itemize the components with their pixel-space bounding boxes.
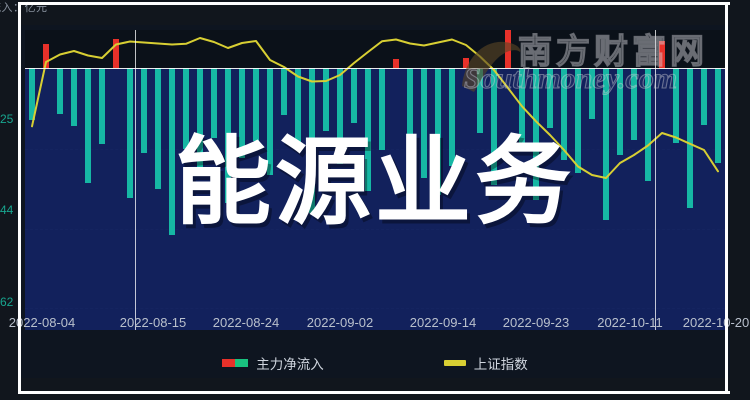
frame-top-edge (18, 2, 730, 5)
chart-plot-area (25, 30, 725, 330)
vertical-guide-right (655, 30, 656, 330)
legend-label: 主力净流入 (256, 353, 324, 373)
zero-baseline (25, 68, 725, 69)
page-header-text: 流入：亿元 (0, 0, 48, 15)
line-series-shanghai-index (25, 30, 725, 330)
x-axis-label-3: 2022-09-02 (307, 315, 374, 330)
x-axis-label-4: 2022-09-14 (410, 315, 477, 330)
frame-corner-top-right (709, 2, 728, 21)
y-axis-label-2: -3.25 (0, 112, 13, 126)
x-axis-labels: 2022-08-042022-08-152022-08-242022-09-02… (20, 315, 730, 337)
x-axis-label-6: 2022-10-11 (597, 315, 663, 330)
legend-swatch-bar-icon (222, 359, 248, 367)
x-axis-label-1: 2022-08-15 (120, 315, 187, 330)
x-axis-label-0: 2022-08-04 (9, 315, 76, 330)
x-axis-label-2: 2022-08-24 (213, 315, 280, 330)
x-axis-label-5: 2022-09-23 (503, 315, 570, 330)
screenshot-root: 流入：亿元 390-3.25-6.44-9.62 2022-08-042022-… (0, 0, 750, 400)
legend-item-0[interactable]: 主力净流入 (222, 353, 324, 373)
legend-label: 上证指数 (474, 353, 528, 373)
bottom-strip (0, 378, 750, 400)
x-axis-label-7: 2022-10-20 (683, 315, 750, 330)
chart-legend: 主力净流入上证指数 (0, 350, 750, 376)
y-axis-label-4: -9.62 (0, 295, 13, 309)
legend-item-1[interactable]: 上证指数 (444, 353, 528, 373)
legend-swatch-line-icon (444, 360, 466, 366)
vertical-guide-left (135, 30, 136, 330)
y-axis-label-3: -6.44 (0, 203, 13, 217)
